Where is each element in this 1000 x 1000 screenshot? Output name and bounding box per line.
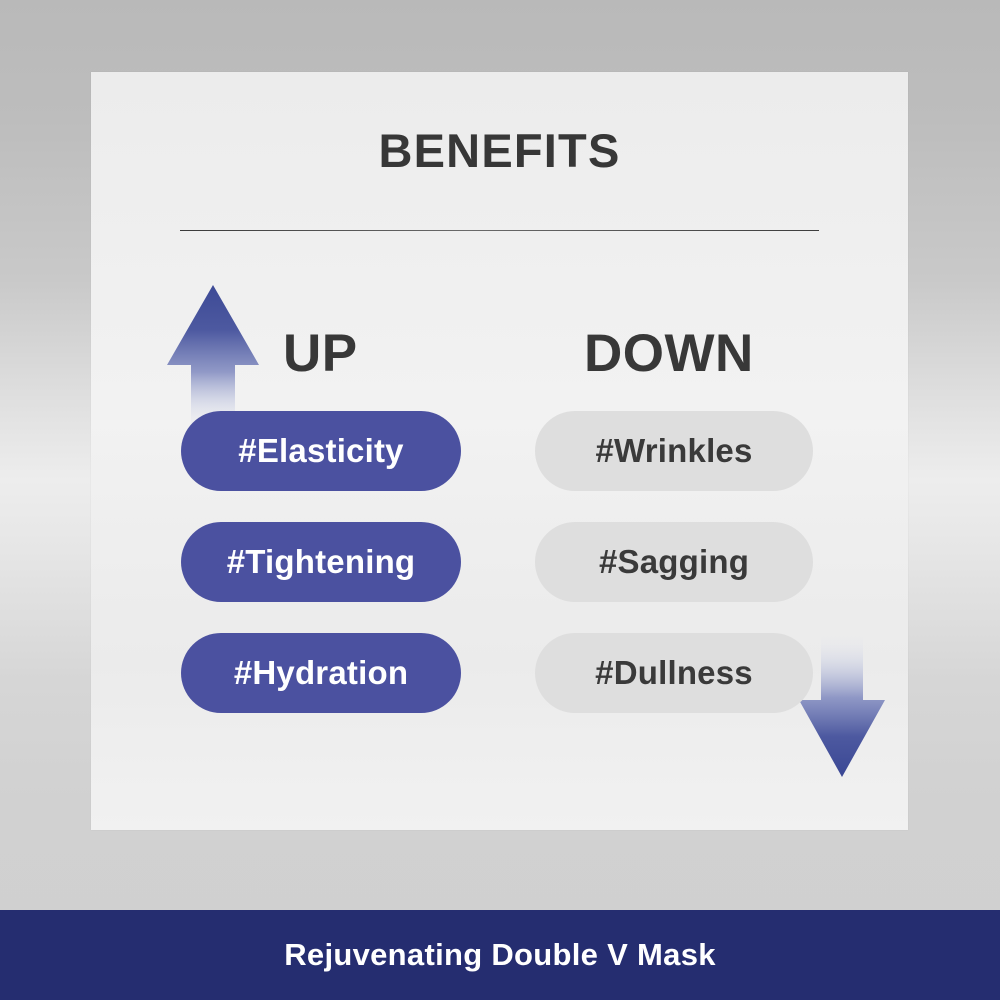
benefit-pill-down[interactable]: #Wrinkles	[535, 411, 813, 491]
benefit-row: #Tightening #Sagging	[91, 522, 908, 602]
infographic-stage: BENEFITS UP DOWN	[0, 0, 1000, 1000]
benefit-row: #Elasticity #Wrinkles	[91, 411, 908, 491]
benefit-row: #Hydration #Dullness	[91, 633, 908, 713]
title-divider	[180, 230, 819, 231]
benefit-pill-up[interactable]: #Elasticity	[181, 411, 461, 491]
benefit-pill-up[interactable]: #Tightening	[181, 522, 461, 602]
page-title: BENEFITS	[91, 127, 908, 174]
product-name: Rejuvenating Double V Mask	[284, 937, 716, 973]
product-banner: Rejuvenating Double V Mask	[0, 910, 1000, 1000]
benefits-card: BENEFITS UP DOWN	[91, 72, 908, 830]
benefit-pill-down[interactable]: #Sagging	[535, 522, 813, 602]
column-heading-up: UP	[283, 327, 358, 380]
benefit-pill-down[interactable]: #Dullness	[535, 633, 813, 713]
column-heading-down: DOWN	[584, 327, 754, 380]
benefit-pill-up[interactable]: #Hydration	[181, 633, 461, 713]
